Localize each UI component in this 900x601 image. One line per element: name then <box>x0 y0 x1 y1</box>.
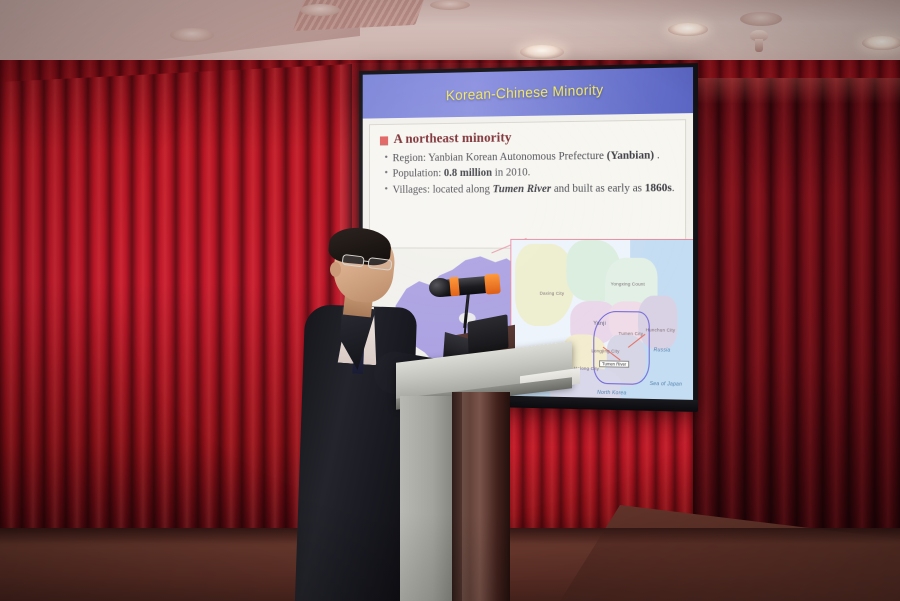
slide-bullet-1: •Population: 0.8 million in 2010. <box>384 165 677 182</box>
bullet-dot-icon: • <box>384 152 388 165</box>
bullet-dot-icon: • <box>384 167 388 180</box>
map-label-sea-of-japan: Sea of Japan <box>650 381 682 388</box>
slide-bullet-text: Villages: located along Tumen River and … <box>393 181 675 197</box>
presentation-scene: Korean-Chinese Minority A northeast mino… <box>0 0 900 601</box>
bullet-dot-icon: • <box>384 183 388 196</box>
curtain-right-panel <box>693 78 900 550</box>
downlight-5 <box>668 23 708 36</box>
map-label-russia: Russia <box>654 347 671 353</box>
downlight-0 <box>170 28 214 42</box>
slide-bullet-0: •Region: Yanbian Korean Autonomous Prefe… <box>384 148 677 166</box>
lectern-front-panel <box>400 396 455 601</box>
downlight-2 <box>430 0 470 10</box>
lectern-column <box>452 392 510 601</box>
red-square-bullet-icon <box>380 136 388 145</box>
map-label-daxing-city: Daxing City <box>540 291 564 296</box>
lectern-column-highlight <box>462 392 470 601</box>
downlight-3 <box>740 12 782 26</box>
presenter-ear <box>330 262 341 277</box>
map-label-longjing-city: Longjing City <box>591 348 619 353</box>
tumen-river-label: Tumen River <box>599 360 629 367</box>
map-label-tumen-city: Tumen City <box>618 331 643 336</box>
map-region-0 <box>515 244 574 327</box>
slide-heading-row: A northeast minority <box>380 128 677 148</box>
slide-bullet-text: Population: 0.8 million in 2010. <box>393 166 531 182</box>
map-label-hunchun-city: Hunchun City <box>646 327 675 332</box>
slide-bullet-text: Region: Yanbian Korean Autonomous Prefec… <box>393 148 660 166</box>
map-label-north-korea: North Korea <box>597 390 626 397</box>
slide-bullet-list: •Region: Yanbian Korean Autonomous Prefe… <box>378 148 677 197</box>
map-label-yanji: Yanji <box>593 321 606 327</box>
microphone-accent-ring-back <box>484 273 501 294</box>
slide-bullet-2: •Villages: located along Tumen River and… <box>384 181 677 197</box>
curtain-top-highlight <box>693 78 900 104</box>
downlight-4 <box>520 45 564 59</box>
map-label-yongxing-count: Yongxing Count <box>611 281 645 286</box>
smoke-detector-icon <box>748 30 770 56</box>
slide-title: Korean-Chinese Minority <box>446 83 604 105</box>
downlight-1 <box>300 4 340 16</box>
slide-heading: A northeast minority <box>394 131 512 148</box>
slide-title-banner: Korean-Chinese Minority <box>363 67 693 118</box>
downlight-6 <box>862 36 900 50</box>
